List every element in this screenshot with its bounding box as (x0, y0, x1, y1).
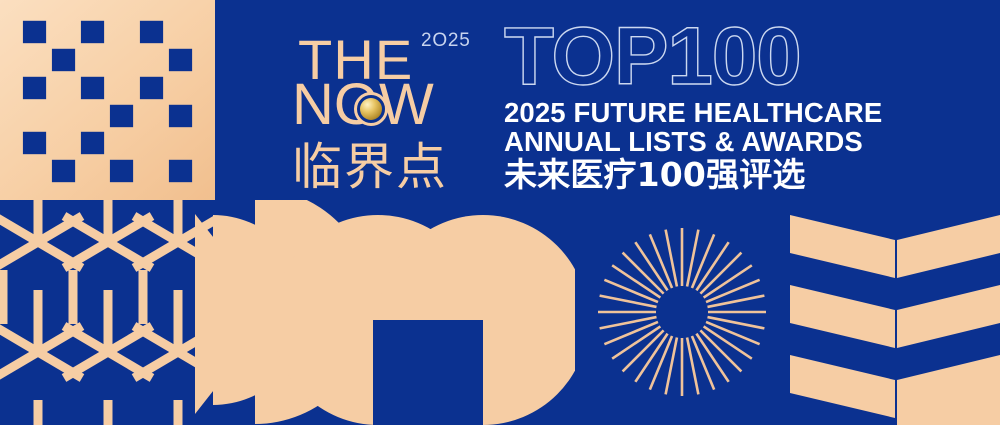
checker-cell (107, 46, 136, 74)
checker-cell (49, 129, 78, 157)
checker-cell (20, 102, 49, 130)
semicircle-shapes-panel (200, 200, 575, 425)
headline-cn-line: 未来医疗100强评选 (504, 157, 904, 194)
the-now-logo: THE 2O25 NOW 临界点 (288, 14, 488, 194)
checker-cell (81, 76, 104, 98)
checker-cell (107, 129, 136, 157)
checker-cell (49, 102, 78, 130)
checker-cell (107, 74, 136, 102)
checker-cell (52, 160, 75, 182)
checker-cell (140, 76, 163, 98)
checker-cell (137, 129, 166, 157)
checker-cell (169, 104, 192, 126)
checker-cell (23, 76, 46, 98)
checker-cell (140, 21, 163, 43)
gold-sphere-icon (354, 92, 388, 126)
checker-cell (169, 160, 192, 182)
headline-en-line-2: ANNUAL LISTS & AWARDS (504, 127, 904, 156)
checkerboard-grid (20, 18, 195, 185)
checker-cell (20, 157, 49, 185)
checkerboard-panel (0, 0, 215, 200)
checker-cell (166, 129, 195, 157)
top100-title: TOP100 (504, 16, 904, 98)
diagonal-stripes-panel (785, 200, 1000, 425)
decorative-band (0, 200, 1000, 425)
logo-year-text: 2O25 (421, 30, 471, 52)
checker-cell (107, 18, 136, 46)
headline-block: TOP100 2025 FUTURE HEALTHCARE ANNUAL LIS… (504, 16, 904, 196)
checker-cell (81, 21, 104, 43)
hexagon-lattice-panel (0, 200, 213, 425)
hexagon-lattice-icon (0, 200, 213, 425)
checker-cell (23, 132, 46, 154)
sunburst-panel (585, 200, 780, 425)
headline-en-line-1: 2025 FUTURE HEALTHCARE (504, 98, 904, 127)
checker-cell (110, 160, 133, 182)
checker-cell (52, 49, 75, 71)
banner-root: THE 2O25 NOW 临界点 TOP100 2025 FUTURE HEAL… (0, 0, 1000, 425)
sunburst-icon (585, 200, 780, 425)
checker-cell (23, 21, 46, 43)
checker-cell (166, 18, 195, 46)
checker-cell (166, 74, 195, 102)
checker-cell (137, 46, 166, 74)
checker-cell (78, 102, 107, 130)
checker-cell (20, 46, 49, 74)
checker-cell (137, 102, 166, 130)
checker-cell (110, 104, 133, 126)
checker-cell (169, 49, 192, 71)
checker-cell (81, 132, 104, 154)
checker-cell (78, 46, 107, 74)
checker-cell (49, 18, 78, 46)
checker-cell (137, 157, 166, 185)
checker-cell (49, 74, 78, 102)
logo-chinese-text: 临界点 (292, 142, 448, 192)
checker-cell (78, 157, 107, 185)
